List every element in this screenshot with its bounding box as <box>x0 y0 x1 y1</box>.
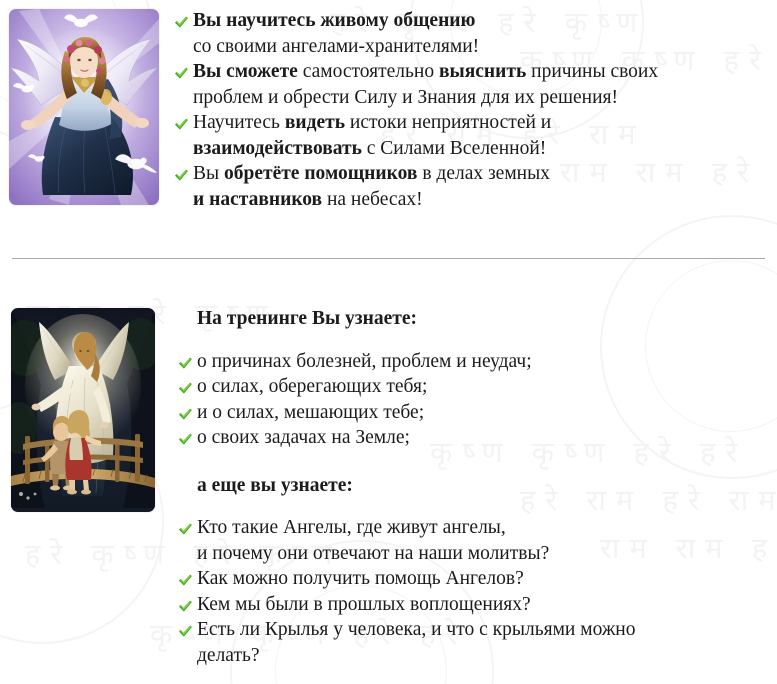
green-check-icon <box>178 596 193 611</box>
body-text: на небесах! <box>327 189 423 210</box>
body-text: о причинах болезней, проблем и неудач; <box>197 351 532 372</box>
list-item-line: Есть ли Крылья у человека, и что с крыль… <box>197 617 768 643</box>
list-item: Кем мы были в прошлых воплощениях? <box>178 592 768 618</box>
green-check-icon <box>178 429 193 444</box>
list-item: Кто такие Ангелы, где живут ангелы,и поч… <box>178 515 768 566</box>
list-item: о причинах болезней, проблем и неудач; <box>178 349 768 375</box>
green-check-icon <box>178 404 193 419</box>
list-item: Есть ли Крылья у человека, и что с крыль… <box>178 617 768 668</box>
spacer <box>178 498 768 515</box>
green-check-icon <box>178 570 193 585</box>
list-item: Научитесь видеть истоки неприятностей ив… <box>174 110 769 161</box>
body-text: Кем мы были в прошлых воплощениях? <box>197 594 531 615</box>
emphasis-text: Вы научитесь живому общению <box>193 10 475 31</box>
list-item-line: и о силах, мешающих тебе; <box>197 400 768 426</box>
emphasis-text: и наставников <box>193 189 327 210</box>
list-item-line: о причинах болезней, проблем и неудач; <box>197 349 768 375</box>
spacer <box>178 332 768 349</box>
list-item: о силах, оберегающих тебя; <box>178 374 768 400</box>
body-text: истоки неприятностей и <box>350 112 551 133</box>
list-item-line: Вы сможете самостоятельно выяснить причи… <box>193 59 769 85</box>
list-item-line: о силах, оберегающих тебя; <box>197 374 768 400</box>
body-text: о силах, оберегающих тебя; <box>197 376 427 397</box>
emphasis-text: видеть <box>285 112 350 133</box>
body-text: проблем и обрести Силу и Знания для их р… <box>193 87 618 108</box>
list-item-line: проблем и обрести Силу и Знания для их р… <box>193 85 769 111</box>
body-text: причины своих <box>531 61 658 82</box>
list-item-line: Кем мы были в прошлых воплощениях? <box>197 592 768 618</box>
promo-page: हरे कृष्ण हरे कृष्ण कृष्ण कृष्ण हरे हरे … <box>0 0 777 684</box>
list-item-line: делать? <box>197 643 768 669</box>
body-text: Вы <box>193 163 224 184</box>
list-item-line: взаимодействовать с Силами Вселенной! <box>193 136 769 162</box>
list-item-line: Научитесь видеть истоки неприятностей и <box>193 110 769 136</box>
list-item: Вы обретёте помощников в делах земныхи н… <box>174 161 769 212</box>
green-check-icon <box>178 519 193 534</box>
body-text: Научитесь <box>193 112 285 133</box>
green-check-icon <box>174 63 189 78</box>
list-item-line: Вы научитесь живому общению <box>193 8 769 34</box>
emphasis-text: обретёте помощников <box>224 163 422 184</box>
list-item-line: и почему они отвечают на наши молитвы? <box>197 541 768 567</box>
body-text: Есть ли Крылья у человека, и что с крыль… <box>197 619 636 640</box>
body-text: со своими ангелами-хранителями! <box>193 36 479 57</box>
green-check-icon <box>178 353 193 368</box>
list-item: Вы научитесь живому общениюсо своими анг… <box>174 8 769 59</box>
green-check-icon <box>174 12 189 27</box>
emphasis-text: выяснить <box>439 61 531 82</box>
emphasis-text: Вы сможете <box>193 61 303 82</box>
angel-with-doves-image <box>9 9 159 205</box>
guardian-angel-bridge-image <box>11 308 155 512</box>
emphasis-text: взаимодействовать <box>193 138 367 159</box>
body-text: и о силах, мешающих тебе; <box>197 402 424 423</box>
green-check-icon <box>178 621 193 636</box>
list-item-line: о своих задачах на Земле; <box>197 425 768 451</box>
green-check-icon <box>178 378 193 393</box>
list-item-line: Как можно получить помощь Ангелов? <box>197 566 768 592</box>
body-text: в делах земных <box>422 163 550 184</box>
section1-benefits-list: Вы научитесь живому общениюсо своими анг… <box>174 8 769 212</box>
body-text: Как можно получить помощь Ангелов? <box>197 568 524 589</box>
list-item: Как можно получить помощь Ангелов? <box>178 566 768 592</box>
list-item: о своих задачах на Земле; <box>178 425 768 451</box>
body-text: и почему они отвечают на наши молитвы? <box>197 543 549 564</box>
green-check-icon <box>174 114 189 129</box>
list-item: и о силах, мешающих тебе; <box>178 400 768 426</box>
section2-topics-list: На тренинге Вы узнаете:о причинах болезн… <box>178 306 768 668</box>
list-item-line: Вы обретёте помощников в делах земных <box>193 161 769 187</box>
body-text: с Силами Вселенной! <box>367 138 547 159</box>
body-text: самостоятельно <box>303 61 439 82</box>
body-text: Кто такие Ангелы, где живут ангелы, <box>197 517 506 538</box>
body-text: делать? <box>197 645 260 666</box>
section2-heading-secondary: а еще вы узнаете: <box>178 473 768 499</box>
list-item-line: и наставников на небесах! <box>193 187 769 213</box>
list-item-line: Кто такие Ангелы, где живут ангелы, <box>197 515 768 541</box>
section-divider <box>12 258 765 259</box>
list-item-line: со своими ангелами-хранителями! <box>193 34 769 60</box>
section2-heading-primary: На тренинге Вы узнаете: <box>178 306 768 332</box>
body-text: о своих задачах на Земле; <box>197 427 410 448</box>
spacer <box>178 451 768 473</box>
list-item: Вы сможете самостоятельно выяснить причи… <box>174 59 769 110</box>
green-check-icon <box>174 165 189 180</box>
